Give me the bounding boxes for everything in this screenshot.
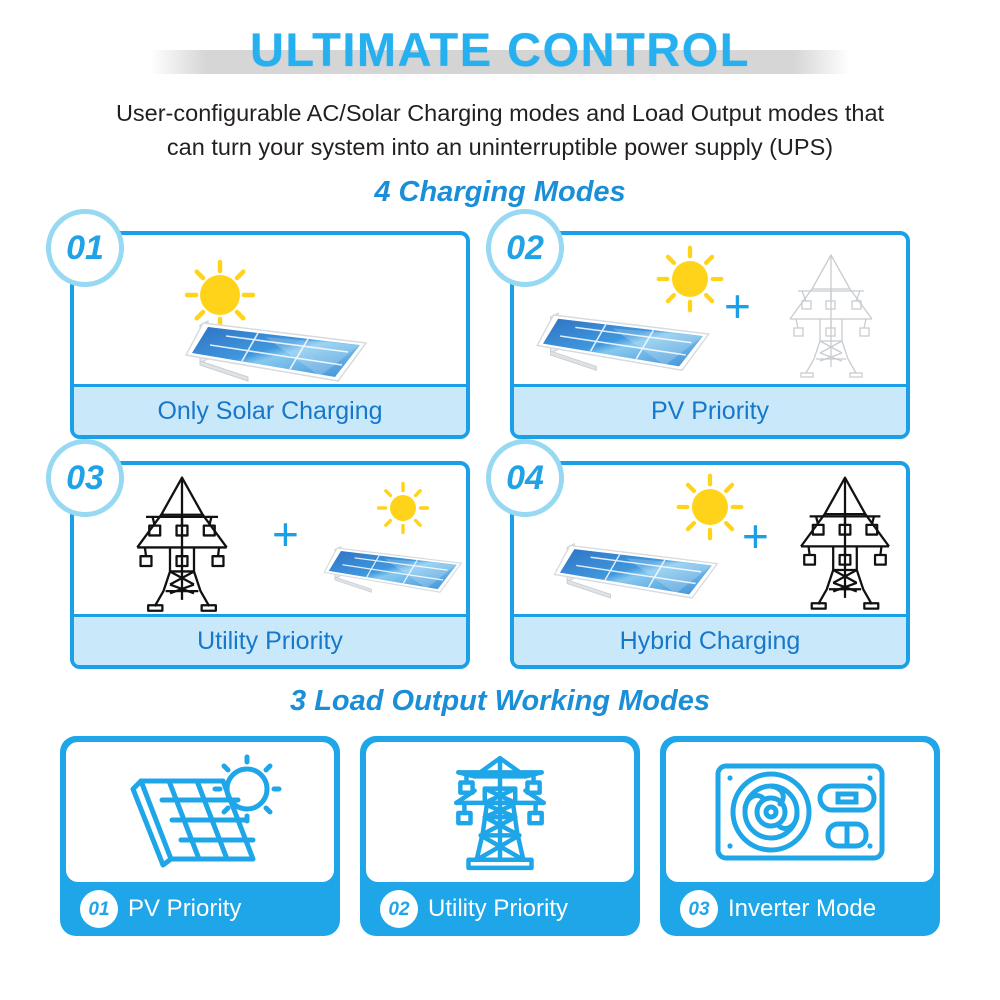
load-card-footer: 02 Utility Priority <box>366 882 634 936</box>
card-artwork: + <box>514 465 906 617</box>
load-modes-grid: 01 PV Priority <box>60 736 940 936</box>
load-card-label: PV Priority <box>128 895 241 923</box>
card-footer: Utility Priority <box>74 614 466 665</box>
load-card-artwork <box>666 742 934 882</box>
card-number-badge: 04 <box>486 439 564 517</box>
charging-card-03[interactable]: 03 <box>70 461 470 669</box>
subtitle-line-1: User-configurable AC/Solar Charging mode… <box>75 96 925 130</box>
plus-icon: + <box>742 513 769 559</box>
load-card-01[interactable]: 01 PV Priority <box>60 736 340 936</box>
card-number-badge: 02 <box>486 209 564 287</box>
card-number: 02 <box>506 231 544 265</box>
card-number-badge: 01 <box>46 209 124 287</box>
card-artwork: + <box>74 465 466 617</box>
load-card-02[interactable]: 02 Utility Priority <box>360 736 640 936</box>
load-card-label: Utility Priority <box>428 895 568 923</box>
inverter-icon <box>710 756 890 868</box>
card-number: 03 <box>66 461 104 495</box>
page-header: ULTIMATE CONTROL User-configurable AC/So… <box>0 0 1000 164</box>
plus-icon: + <box>272 511 299 557</box>
card-footer: PV Priority <box>514 384 906 435</box>
pylon-icon <box>776 249 886 384</box>
load-card-03[interactable]: 03 Inverter Mode <box>660 736 940 936</box>
solar-panel-icon <box>522 275 722 380</box>
sun-icon <box>374 479 432 542</box>
charging-modes-heading: 4 Charging Modes <box>0 176 1000 209</box>
charging-modes-grid: 01 <box>70 231 930 669</box>
load-card-number: 02 <box>388 900 409 919</box>
load-card-badge: 02 <box>380 890 418 928</box>
title-container: ULTIMATE CONTROL <box>0 18 1000 80</box>
solar-panel-icon <box>540 507 730 608</box>
pylon-icon <box>441 750 559 874</box>
pylon-icon <box>122 471 242 617</box>
load-card-number: 03 <box>688 900 709 919</box>
card-number: 04 <box>506 461 544 495</box>
card-number: 01 <box>66 231 104 265</box>
load-card-footer: 01 PV Priority <box>66 882 334 936</box>
plus-icon: + <box>724 283 751 329</box>
subtitle-line-2: can turn your system into an uninterrupt… <box>75 130 925 164</box>
load-output-heading: 3 Load Output Working Modes <box>0 685 1000 718</box>
solar-panel-icon <box>170 281 380 387</box>
load-card-artwork <box>366 742 634 882</box>
solar-panel-sun-icon <box>105 753 295 871</box>
card-label: Only Solar Charging <box>157 397 382 426</box>
card-label: Hybrid Charging <box>620 627 801 656</box>
card-footer: Hybrid Charging <box>514 614 906 665</box>
charging-card-02[interactable]: 02 <box>510 231 910 439</box>
load-card-label: Inverter Mode <box>728 895 876 923</box>
charging-card-01[interactable]: 01 <box>70 231 470 439</box>
load-card-badge: 03 <box>680 890 718 928</box>
load-card-artwork <box>66 742 334 882</box>
card-artwork <box>74 235 466 387</box>
card-artwork: + <box>514 235 906 387</box>
pylon-icon <box>786 471 904 616</box>
card-label: PV Priority <box>651 397 769 426</box>
page-title: ULTIMATE CONTROL <box>250 26 750 73</box>
load-card-footer: 03 Inverter Mode <box>666 882 934 936</box>
load-card-number: 01 <box>88 900 109 919</box>
page-subtitle: User-configurable AC/Solar Charging mode… <box>75 96 925 164</box>
card-number-badge: 03 <box>46 439 124 517</box>
card-footer: Only Solar Charging <box>74 384 466 435</box>
card-label: Utility Priority <box>197 627 343 656</box>
load-card-badge: 01 <box>80 890 118 928</box>
charging-card-04[interactable]: 04 <box>510 461 910 669</box>
